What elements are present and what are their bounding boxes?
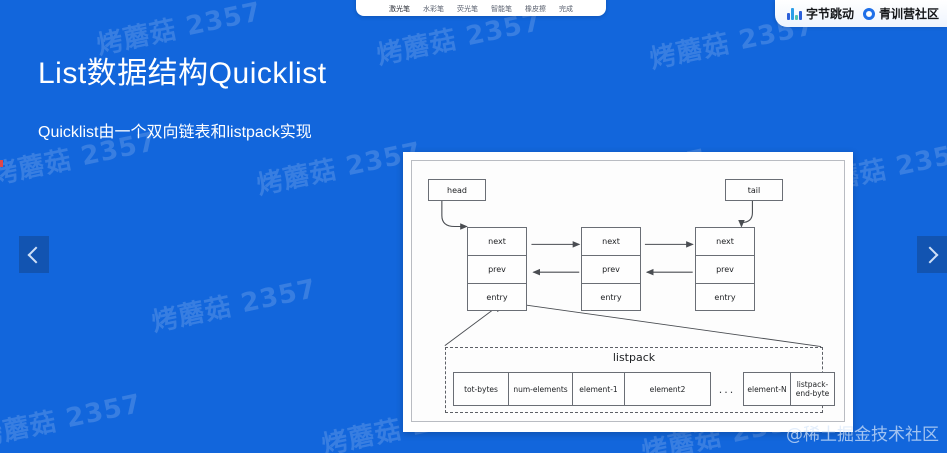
- node-field-next: next: [467, 227, 527, 255]
- listpack-cell-4: ...: [711, 372, 743, 406]
- pen-tool-2[interactable]: 荧光笔: [457, 4, 478, 14]
- node-field-next: next: [695, 227, 755, 255]
- node-field-prev: prev: [581, 255, 641, 283]
- edge-marker: [0, 160, 3, 167]
- page-title: List数据结构Quicklist: [38, 48, 327, 92]
- next-slide-button[interactable]: [917, 236, 947, 273]
- ring-logo-icon: [863, 8, 875, 20]
- page-subtitle: Quicklist由一个双向链表和listpack实现: [38, 118, 312, 142]
- listpack-cell-5: element-N: [743, 372, 791, 406]
- pen-tool-5[interactable]: 完成: [559, 4, 573, 14]
- listpack-cell-1: num-elements: [509, 372, 573, 406]
- chevron-left-icon: [28, 246, 45, 263]
- prev-slide-button[interactable]: [19, 236, 49, 273]
- bytedance-label: 字节跳动: [806, 5, 854, 22]
- listpack-cell-6: listpack-end-byte: [791, 372, 835, 406]
- list-node-2: next prev entry: [581, 227, 641, 311]
- slide-canvas: List数据结构Quicklist Quicklist由一个双向链表和listp…: [0, 0, 947, 453]
- node-field-next: next: [581, 227, 641, 255]
- listpack-cell-row: tot-bytesnum-elementselement-1element2..…: [453, 372, 815, 406]
- pen-tool-0[interactable]: 激光笔: [389, 4, 410, 14]
- listpack-cell-3: element2: [625, 372, 711, 406]
- listpack-title: listpack: [446, 351, 822, 364]
- bar-chart-icon: [787, 8, 802, 20]
- pen-tool-4[interactable]: 橡皮擦: [525, 4, 546, 14]
- brand-bar: 字节跳动 青训营社区: [775, 0, 947, 27]
- diagram-panel: head tail next prev entry next prev entr…: [403, 152, 853, 432]
- pen-toolbar[interactable]: 激光笔水彩笔荧光笔智能笔橡皮擦完成: [356, 0, 606, 16]
- head-box: head: [428, 179, 486, 201]
- list-node-3: next prev entry: [695, 227, 755, 311]
- node-field-prev: prev: [467, 255, 527, 283]
- bytedance-brand: 字节跳动: [787, 5, 854, 22]
- node-field-entry: entry: [467, 283, 527, 311]
- community-label: 青训营社区: [879, 5, 939, 22]
- node-field-prev: prev: [695, 255, 755, 283]
- list-node-1: next prev entry: [467, 227, 527, 311]
- community-brand: 青训营社区: [863, 5, 939, 22]
- listpack-cell-2: element-1: [573, 372, 625, 406]
- listpack-cell-0: tot-bytes: [453, 372, 509, 406]
- diagram-frame: head tail next prev entry next prev entr…: [411, 160, 845, 422]
- tail-box: tail: [725, 179, 783, 201]
- listpack-group: listpack tot-bytesnum-elementselement-1e…: [445, 347, 823, 413]
- pen-tool-1[interactable]: 水彩笔: [423, 4, 444, 14]
- node-field-entry: entry: [581, 283, 641, 311]
- node-field-entry: entry: [695, 283, 755, 311]
- chevron-right-icon: [922, 246, 939, 263]
- pen-tool-3[interactable]: 智能笔: [491, 4, 512, 14]
